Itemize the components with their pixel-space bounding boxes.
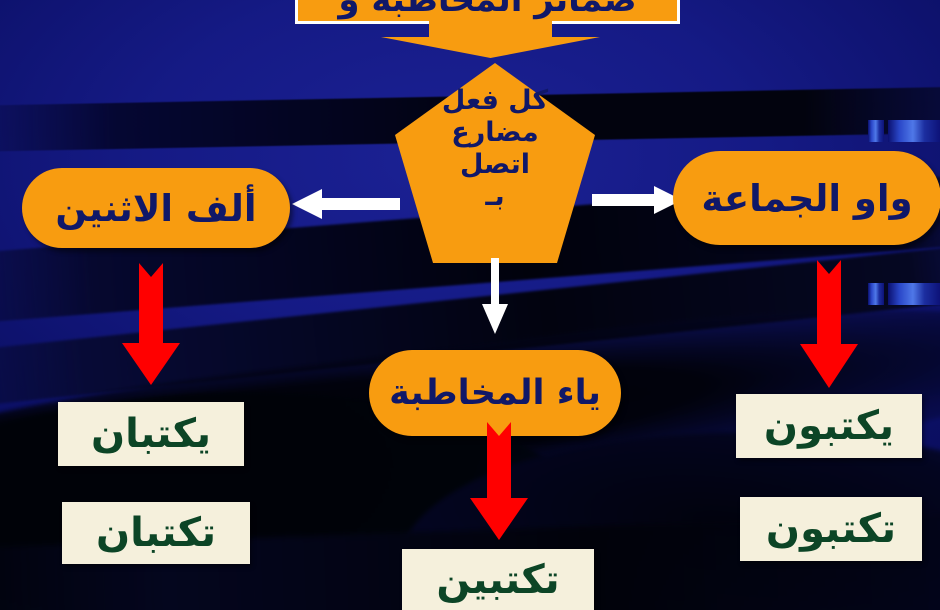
branch-label-yaa-al-mukhataba: ياء المخاطبة bbox=[389, 376, 601, 411]
branch-pill-alif-al-ithnayn[interactable]: ألف الاثنين bbox=[22, 168, 290, 248]
branch-label-waw-al-jamaa: واو الجماعة bbox=[701, 180, 912, 217]
example-text-left-2: تكتبان bbox=[96, 513, 216, 553]
center-node-line-1: كل فعل bbox=[395, 85, 595, 117]
example-box-center-1: تكتبين bbox=[402, 549, 594, 610]
branch-pill-yaa-al-mukhataba[interactable]: ياء المخاطبة bbox=[369, 350, 621, 436]
center-node-pentagon: كل فعل مضارع اتصل بـ bbox=[395, 63, 595, 263]
banner-down-arrow-icon bbox=[381, 21, 600, 58]
example-box-right-1: يكتبون bbox=[736, 394, 922, 458]
example-text-right-1: يكتبون bbox=[764, 406, 894, 446]
center-node-line-2: مضارع bbox=[395, 117, 595, 149]
center-node-line-4: بـ bbox=[395, 181, 595, 213]
accent-bar-mid-right bbox=[888, 283, 940, 305]
example-text-right-2: تكتبون bbox=[766, 509, 896, 549]
accent-bar-top-right bbox=[888, 120, 940, 142]
connector-arrow-left-icon bbox=[292, 185, 400, 223]
example-box-right-2: تكتبون bbox=[740, 497, 922, 561]
center-node-label: كل فعل مضارع اتصل بـ bbox=[395, 63, 595, 263]
example-arrow-right-icon bbox=[798, 252, 860, 388]
example-box-left-1: يكتبان bbox=[58, 402, 244, 466]
title-banner-text: ضمائر المخاطبة و bbox=[338, 0, 636, 21]
example-text-left-1: يكتبان bbox=[91, 414, 211, 454]
accent-bar-mid-right-2 bbox=[868, 283, 884, 305]
branch-pill-waw-al-jamaa[interactable]: واو الجماعة bbox=[673, 151, 940, 245]
center-node-line-3: اتصل bbox=[395, 149, 595, 181]
slide-canvas: ضمائر المخاطبة و كل فعل مضارع اتصل بـ أل… bbox=[0, 0, 940, 610]
connector-arrow-right-icon bbox=[592, 183, 682, 217]
example-text-center-1: تكتبين bbox=[436, 560, 559, 600]
branch-label-alif-al-ithnayn: ألف الاثنين bbox=[55, 190, 256, 227]
example-arrow-left-icon bbox=[120, 255, 182, 385]
accent-bar-top-right-2 bbox=[868, 120, 884, 142]
example-box-left-2: تكتبان bbox=[62, 502, 250, 564]
connector-arrow-down-center-icon bbox=[480, 258, 510, 334]
